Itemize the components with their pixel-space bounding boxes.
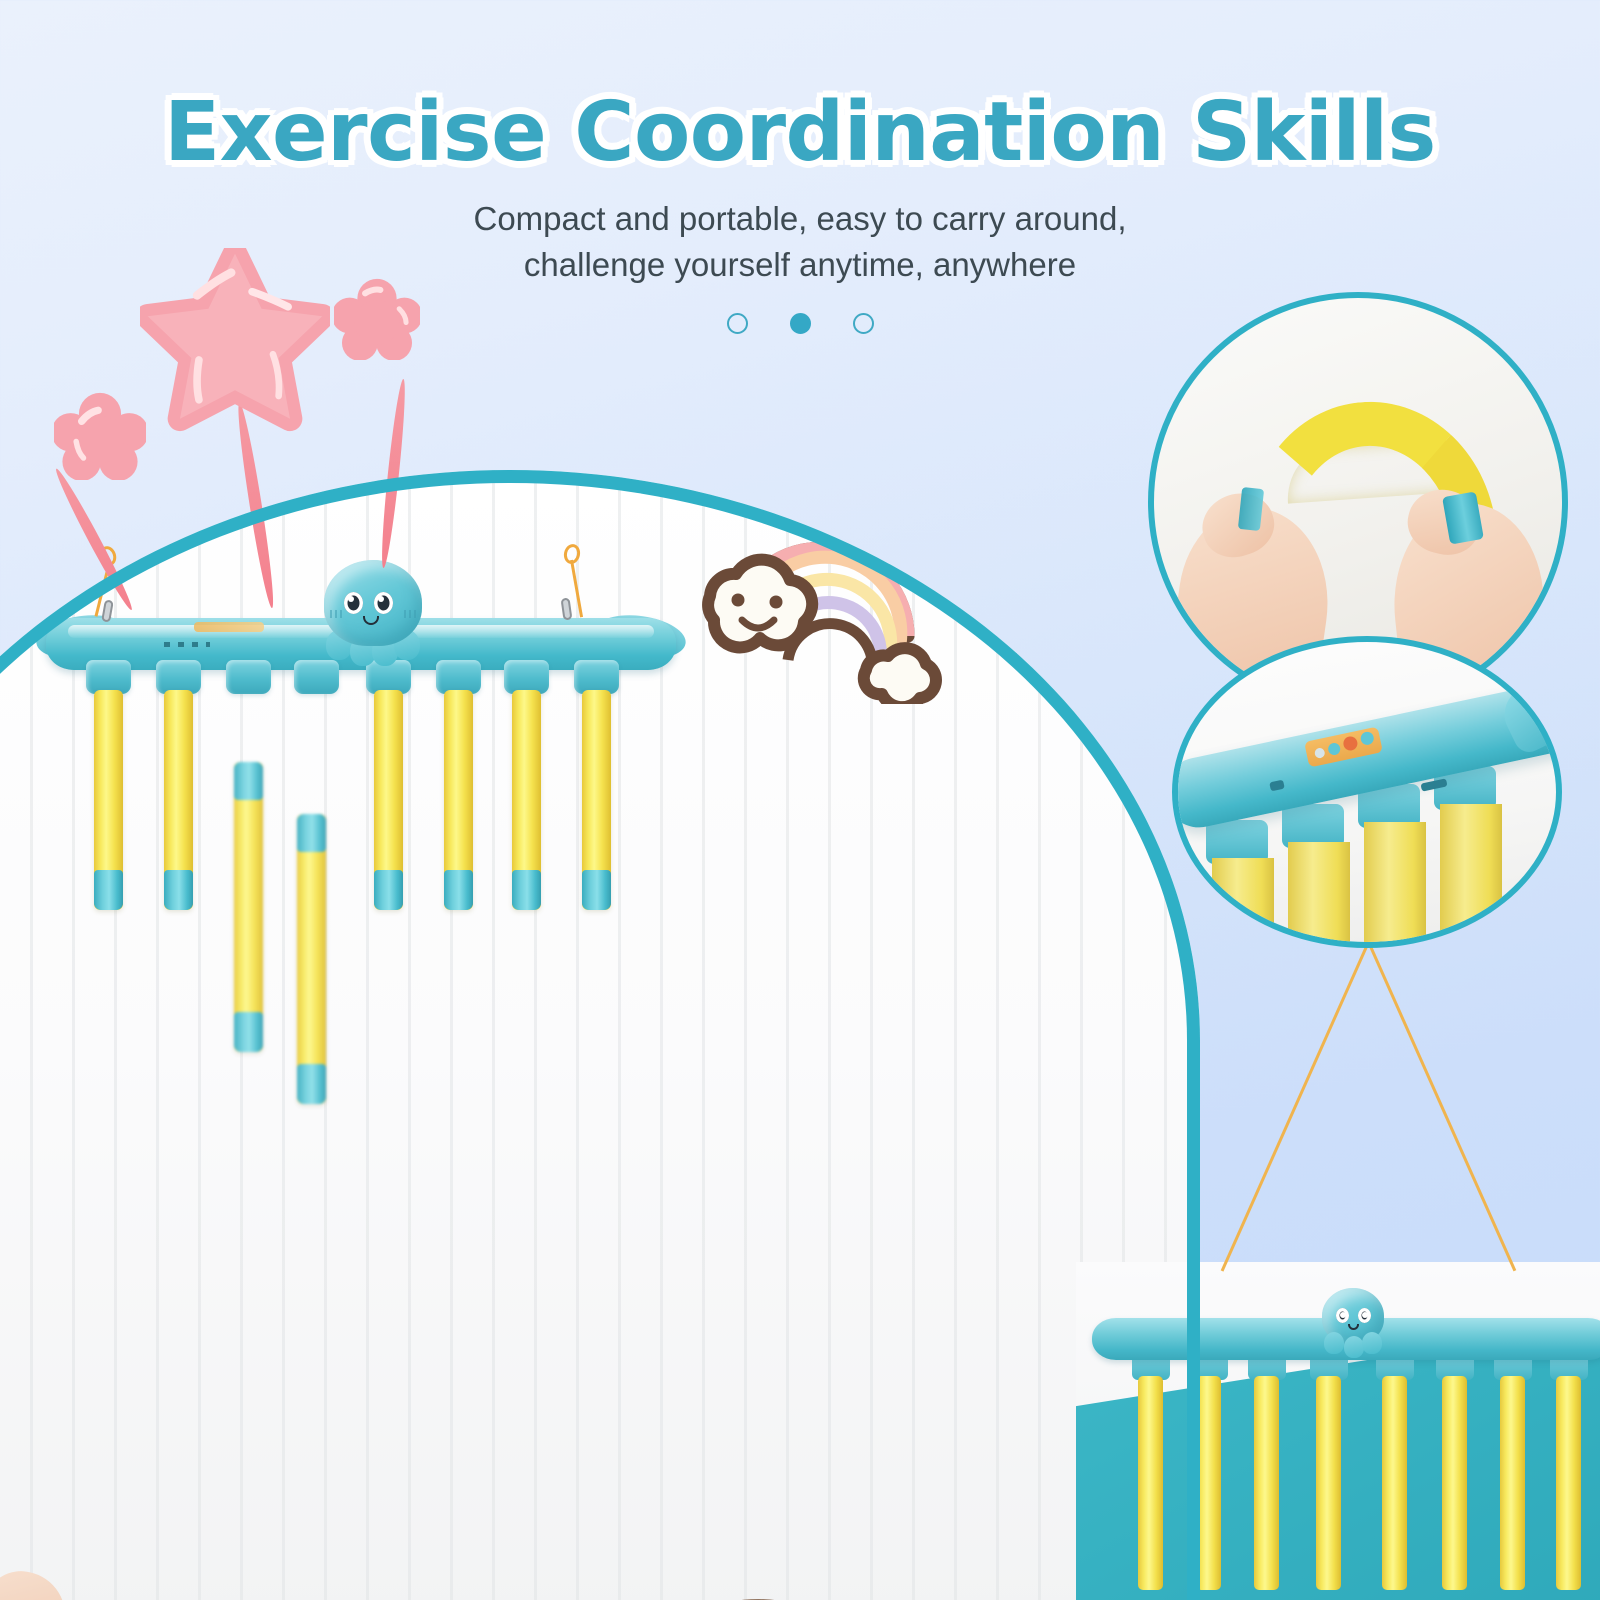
toy-stick (582, 690, 611, 910)
octopus-blush-left (330, 610, 343, 618)
pink-flower-large-icon (54, 392, 146, 480)
subtitle-line-2: challenge yourself anytime, anywhere (0, 242, 1600, 288)
stick-socket (436, 660, 481, 694)
stick-socket (156, 660, 201, 694)
falling-stick (234, 762, 263, 1052)
stick-cap (444, 870, 473, 910)
cloud-rainbow-icon (676, 524, 946, 704)
falling-stick (297, 814, 326, 1104)
br-stick (1316, 1376, 1341, 1590)
octopus-eye-left (344, 592, 363, 614)
pagination-dots (0, 313, 1600, 334)
br-stick (1254, 1376, 1279, 1590)
octopus-blush-right (404, 610, 417, 618)
bar-label-sticker (194, 622, 264, 632)
detail-stick (1212, 858, 1274, 948)
subtitle-line-1: Compact and portable, easy to carry arou… (0, 196, 1600, 242)
child-girl (0, 1530, 420, 1600)
pagination-dot-3[interactable] (853, 313, 874, 334)
bottom-product-shot (1076, 1262, 1600, 1600)
stick-cap (374, 870, 403, 910)
detail-stick (1440, 804, 1502, 948)
child-boy (420, 1560, 1060, 1600)
br-octopus-eye-right (1358, 1308, 1371, 1323)
bar-speaker-vent (164, 642, 210, 647)
detail-stick (1288, 842, 1350, 948)
stick-socket (504, 660, 549, 694)
panel-button-1[interactable] (1314, 747, 1326, 759)
page-subtitle: Compact and portable, easy to carry arou… (0, 196, 1600, 287)
pagination-dot-2-active[interactable] (790, 313, 811, 334)
pagination-dot-1[interactable] (727, 313, 748, 334)
connector-strap-left (1221, 941, 1370, 1271)
stick-cap (234, 762, 263, 800)
toy-stick (374, 690, 403, 910)
detail-stick (1364, 822, 1426, 948)
panel-button-2[interactable] (1327, 742, 1341, 756)
br-octopus-tentacle (1324, 1332, 1344, 1354)
br-octopus-mascot (1310, 1282, 1396, 1368)
br-stick (1196, 1376, 1221, 1590)
stick-socket (226, 660, 271, 694)
toy-stick (164, 690, 193, 910)
poster-canvas: Exercise Coordination Skills Compact and… (0, 0, 1600, 1600)
stick-cap-teal-far (1238, 487, 1264, 531)
stick-socket (86, 660, 131, 694)
stick-cap (164, 870, 193, 910)
stick-socket (574, 660, 619, 694)
stick-cap (512, 870, 541, 910)
br-stick (1382, 1376, 1407, 1590)
poster-header: Exercise Coordination Skills Compact and… (0, 0, 1600, 334)
toy-stick (94, 690, 123, 910)
stick-cap (297, 814, 326, 852)
br-stick (1500, 1376, 1525, 1590)
br-stick (1556, 1376, 1581, 1590)
girl-left-hand (0, 1562, 78, 1600)
octopus-eye-right (374, 592, 393, 614)
br-octopus-eye-left (1336, 1308, 1349, 1323)
connector-strap-right (1367, 941, 1516, 1271)
br-stick (1442, 1376, 1467, 1590)
page-title: Exercise Coordination Skills (0, 92, 1600, 174)
inset-control-panel-closeup (1172, 636, 1562, 948)
stick-cap (234, 1012, 263, 1052)
toy-stick (512, 690, 541, 910)
octopus-head (324, 560, 422, 646)
toy-stick (444, 690, 473, 910)
stick-cap (297, 1064, 326, 1104)
br-stick (1138, 1376, 1163, 1590)
br-octopus-tentacle (1362, 1332, 1382, 1354)
br-octopus-tentacle (1344, 1336, 1364, 1358)
stick-cap (94, 870, 123, 910)
boy-hair (615, 1585, 926, 1600)
stick-cap (582, 870, 611, 910)
panel-button-3[interactable] (1360, 731, 1375, 746)
panel-button-power[interactable] (1342, 735, 1359, 752)
octopus-mascot (318, 560, 428, 672)
